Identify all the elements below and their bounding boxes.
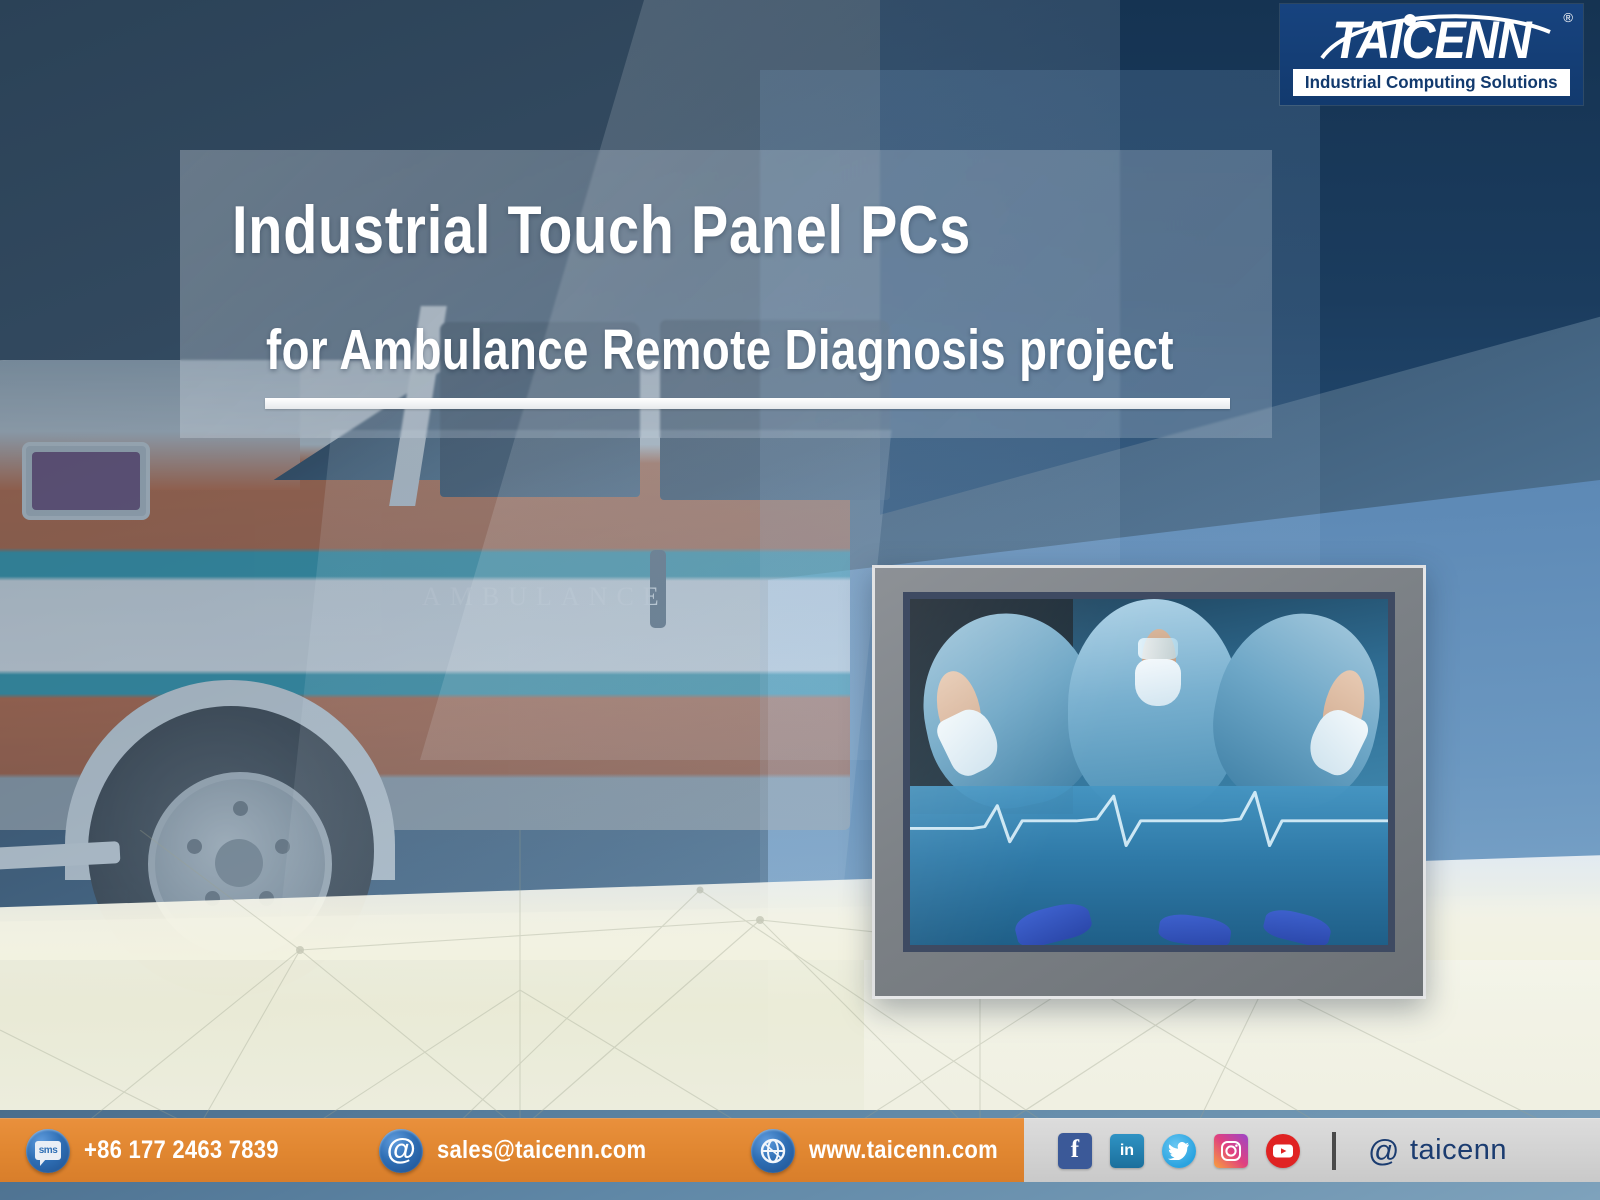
ambulance-label: AMBULANCE: [422, 582, 668, 612]
industrial-panel-pc[interactable]: [872, 565, 1426, 999]
globe-icon: [751, 1129, 795, 1173]
contact-footer: sms +86 177 2463 7839 @ sales@taicenn.co…: [0, 1118, 1600, 1182]
linkedin-icon[interactable]: in: [1110, 1134, 1144, 1168]
footer-social-bar: f in @: [1024, 1118, 1600, 1182]
phone-number: +86 177 2463 7839: [84, 1136, 279, 1165]
youtube-icon[interactable]: [1266, 1134, 1300, 1168]
social-handle[interactable]: @ taicenn: [1368, 1133, 1507, 1169]
logo-wordmark: TAICENN: [1280, 9, 1583, 71]
instagram-icon[interactable]: [1214, 1134, 1248, 1168]
twitter-bird-glyph: [1168, 1142, 1190, 1160]
panel-bezel-inner: [903, 592, 1395, 952]
handle-name: taicenn: [1410, 1134, 1507, 1167]
twitter-icon[interactable]: [1162, 1134, 1196, 1168]
page-subtitle: for Ambulance Remote Diagnosis project: [266, 322, 1210, 379]
screen-glare: [910, 599, 1388, 945]
footer-email[interactable]: @ sales@taicenn.com: [379, 1129, 675, 1173]
headline-underline: [265, 398, 1230, 409]
website-url: www.taicenn.com: [809, 1136, 998, 1165]
page-title: Industrial Touch Panel PCs: [232, 196, 1101, 264]
footer-phone[interactable]: sms +86 177 2463 7839: [26, 1129, 305, 1173]
instagram-glyph: [1220, 1140, 1242, 1162]
registered-mark: ®: [1563, 10, 1573, 25]
ambulance-side-mirror: [22, 442, 150, 520]
email-address: sales@taicenn.com: [437, 1136, 646, 1165]
handle-at-symbol: @: [1368, 1133, 1400, 1169]
footer-website[interactable]: www.taicenn.com: [751, 1129, 1024, 1173]
at-icon: @: [379, 1129, 423, 1173]
taicenn-logo[interactable]: TAICENN ® Industrial Computing Solutions: [1280, 4, 1583, 105]
at-icon-glyph: @: [387, 1135, 416, 1165]
panel-screen: [910, 599, 1388, 945]
footer-contact-bar: sms +86 177 2463 7839 @ sales@taicenn.co…: [0, 1118, 1024, 1182]
youtube-glyph: [1272, 1143, 1294, 1159]
social-divider: [1332, 1132, 1336, 1170]
facebook-icon[interactable]: f: [1058, 1133, 1092, 1169]
sms-icon-label: sms: [35, 1141, 61, 1160]
logo-tagline-box: Industrial Computing Solutions: [1293, 69, 1570, 96]
sms-icon: sms: [26, 1129, 70, 1173]
marketing-banner: AMBULANCE: [0, 0, 1600, 1200]
globe-icon-glyph: [759, 1137, 787, 1165]
logo-tagline: Industrial Computing Solutions: [1305, 72, 1558, 93]
